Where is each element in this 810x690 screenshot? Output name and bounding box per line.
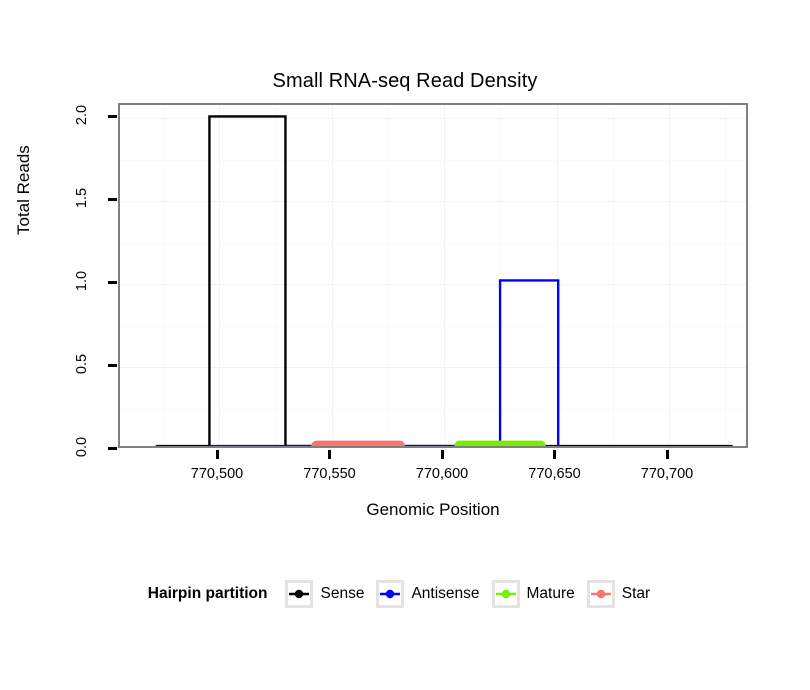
y-tick-label: 1.5 <box>74 176 90 220</box>
legend-title: Hairpin partition <box>148 585 268 603</box>
x-tick-mark <box>328 450 331 459</box>
series-antisense <box>209 280 558 446</box>
legend-item-mature[interactable]: Mature <box>492 580 575 608</box>
legend-items: SenseAntisenseMatureStar <box>285 580 662 608</box>
chart-title: Small RNA-seq Read Density <box>0 70 810 93</box>
y-tick-mark <box>108 364 117 367</box>
y-tick-label: 1.0 <box>74 259 90 303</box>
plot-panel-inner <box>120 105 746 446</box>
legend-label: Antisense <box>411 585 479 603</box>
legend-label: Sense <box>320 585 364 603</box>
x-tick-label: 770,700 <box>622 466 712 482</box>
legend-point-line-icon <box>379 583 401 605</box>
y-tick-label: 2.0 <box>74 93 90 137</box>
x-tick-label: 770,600 <box>397 466 487 482</box>
x-tick-mark <box>216 450 219 459</box>
y-axis-title: Total Reads <box>14 145 34 235</box>
chart-root: Small RNA-seq Read Density Total Reads 0… <box>0 0 810 690</box>
legend-item-star[interactable]: Star <box>587 580 650 608</box>
plot-panel <box>118 103 748 448</box>
legend-label: Star <box>622 585 650 603</box>
x-axis-title: Genomic Position <box>118 500 748 520</box>
x-tick-label: 770,550 <box>285 466 375 482</box>
legend-key-sense <box>285 580 313 608</box>
legend: Hairpin partition SenseAntisenseMatureSt… <box>0 580 810 608</box>
legend-key-antisense <box>376 580 404 608</box>
y-tick-mark <box>108 115 117 118</box>
x-tick-mark <box>666 450 669 459</box>
y-tick-label: 0.5 <box>74 342 90 386</box>
legend-key-star <box>587 580 615 608</box>
legend-point-line-icon <box>590 583 612 605</box>
legend-item-sense[interactable]: Sense <box>285 580 364 608</box>
x-tick-label: 770,650 <box>510 466 600 482</box>
x-tick-label: 770,500 <box>172 466 262 482</box>
data-series-layer <box>120 105 746 446</box>
y-tick-mark <box>108 198 117 201</box>
y-tick-mark <box>108 447 117 450</box>
x-tick-mark <box>553 450 556 459</box>
legend-point-line-icon <box>495 583 517 605</box>
series-sense <box>156 116 733 446</box>
y-tick-label: 0.0 <box>74 425 90 469</box>
legend-key-mature <box>492 580 520 608</box>
legend-item-antisense[interactable]: Antisense <box>376 580 479 608</box>
legend-point-line-icon <box>288 583 310 605</box>
x-tick-mark <box>441 450 444 459</box>
y-tick-mark <box>108 281 117 284</box>
legend-label: Mature <box>527 585 575 603</box>
